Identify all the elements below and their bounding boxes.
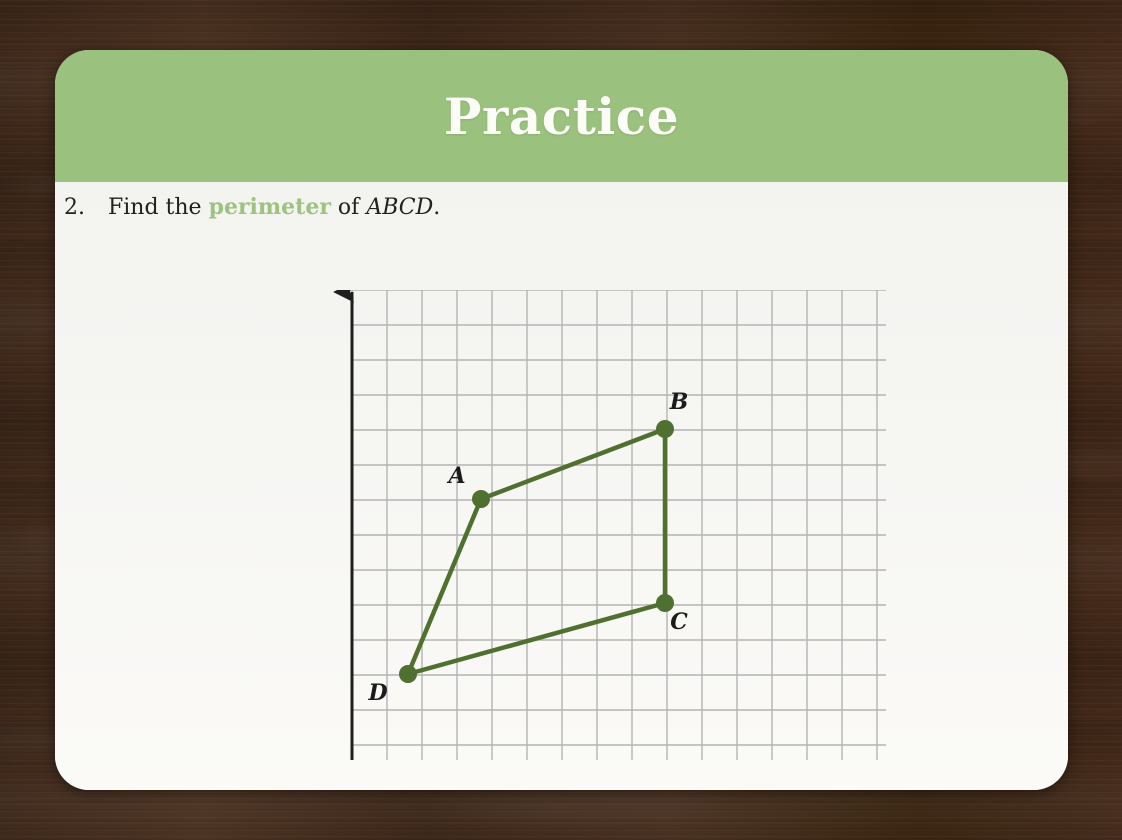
axes [352,292,886,760]
polygon-side-ab [481,429,665,499]
slide-header: Practice [55,50,1068,182]
vertex-point-d [399,665,417,683]
slide-card: Practice 2.Find the perimeter of ABCD. [55,50,1068,790]
polygon-side-da [408,499,481,674]
question-text-middle: of [331,195,366,220]
vertex-point-a [472,490,490,508]
vertex-point-b [656,420,674,438]
vertex-label-a: A [446,463,465,489]
question-shape-name: ABCD [366,195,433,220]
grid-lines [352,290,886,760]
polygon-abcd [408,429,665,674]
page-title: Practice [444,87,679,146]
question-text-before: Find the [108,195,209,220]
polygon-vertices [399,420,674,683]
vertex-label-d: D [367,680,387,706]
coordinate-grid-graph: ABCD [296,290,886,760]
vertex-label-b: B [669,389,689,415]
question-number: 2. [64,195,108,220]
question-keyword: perimeter [209,194,331,220]
question-text-after: . [433,195,440,220]
question-text: 2.Find the perimeter of ABCD. [64,194,440,220]
polygon-side-cd [408,603,665,674]
vertex-label-c: C [670,609,688,635]
graph-svg: ABCD [296,290,886,760]
slide-body: 2.Find the perimeter of ABCD. [55,182,1068,790]
